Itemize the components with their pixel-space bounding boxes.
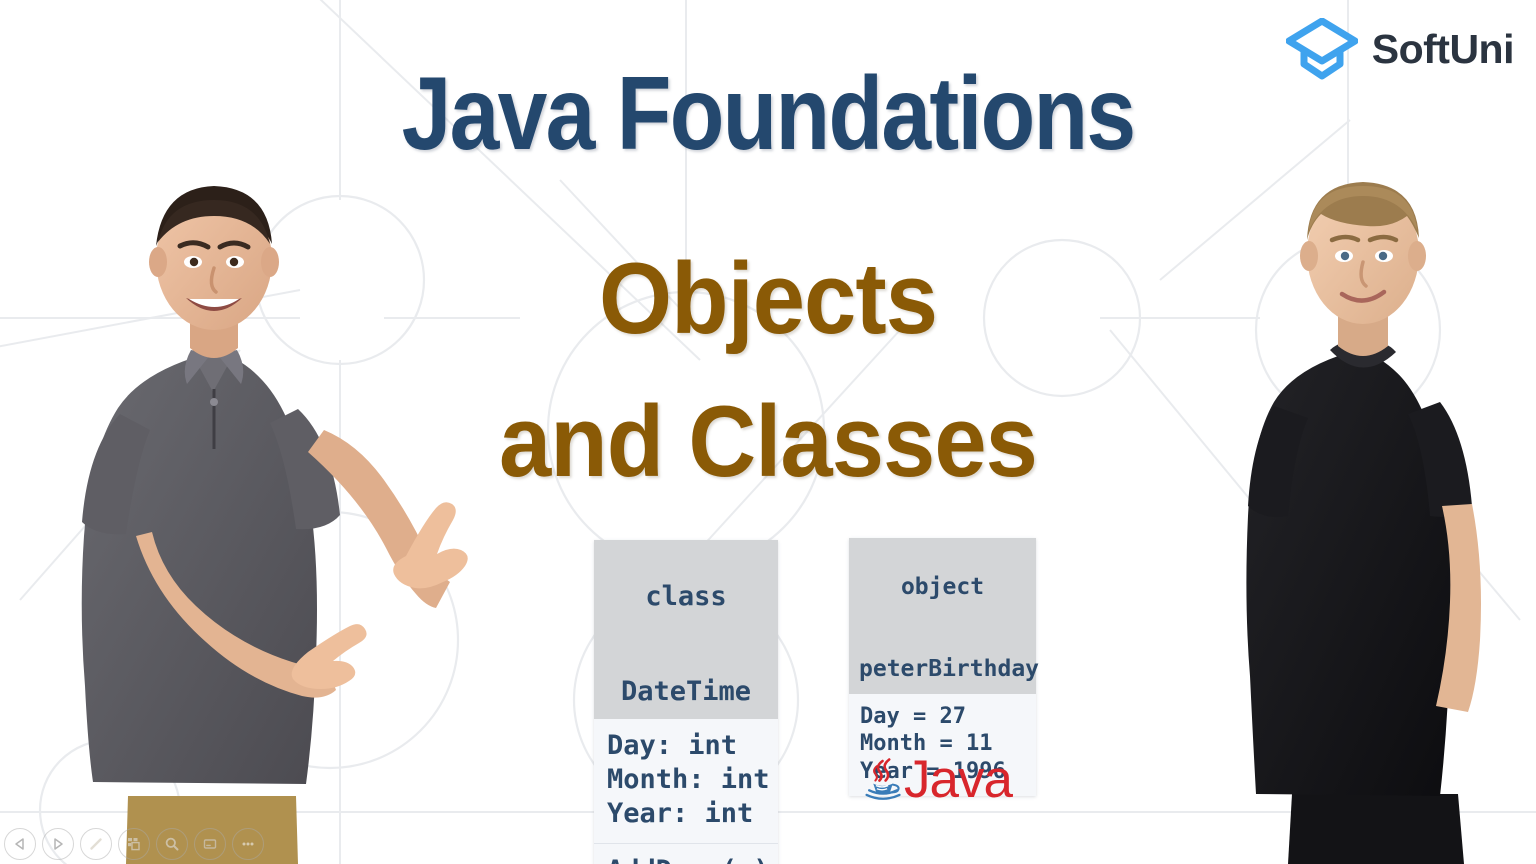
java-wordmark: Java xyxy=(904,753,1012,806)
subtitle-line-2: and Classes xyxy=(54,371,1482,514)
class-method-row: AddDays(…) xyxy=(607,854,765,864)
page-subtitle: Objects and Classes xyxy=(54,228,1482,515)
class-box-header-name: DateTime xyxy=(621,676,751,707)
class-box-header: class DateTime xyxy=(594,540,778,719)
object-box-header-name: peterBirthday xyxy=(859,656,1039,682)
pen-tool-button[interactable] xyxy=(80,828,112,860)
ellipsis-icon xyxy=(240,836,256,852)
previous-slide-button[interactable] xyxy=(4,828,36,860)
subtitles-icon xyxy=(202,836,218,852)
object-box-header: object peterBirthday xyxy=(849,538,1036,694)
zoom-button[interactable] xyxy=(156,828,188,860)
slide-overview-button[interactable] xyxy=(118,828,150,860)
class-field-row: Day: int xyxy=(607,729,765,763)
triangle-right-icon xyxy=(51,837,65,851)
subtitle-line-1: Objects xyxy=(54,228,1482,371)
triangle-left-icon xyxy=(13,837,27,851)
page-title: Java Foundations xyxy=(108,62,1429,166)
java-coffee-cup-icon xyxy=(862,738,902,820)
presentation-slide: SoftUni Java Foundations Objects and Cla… xyxy=(0,0,1536,864)
class-diagram-box: class DateTime Day: int Month: int Year:… xyxy=(594,540,778,864)
subtitles-button[interactable] xyxy=(194,828,226,860)
java-logo: Java xyxy=(862,738,1012,820)
softuni-logo: SoftUni xyxy=(1286,18,1514,80)
pen-icon xyxy=(88,836,104,852)
next-slide-button[interactable] xyxy=(42,828,74,860)
class-field-row: Month: int xyxy=(607,763,765,797)
presentation-toolbar[interactable] xyxy=(4,828,264,860)
class-box-header-keyword: class xyxy=(645,581,726,612)
more-options-button[interactable] xyxy=(232,828,264,860)
graduation-cap-icon xyxy=(1286,18,1358,80)
object-box-header-keyword: object xyxy=(901,574,984,600)
class-box-methods: AddDays(…) Subtract(…) xyxy=(594,843,778,864)
softuni-logo-text: SoftUni xyxy=(1372,29,1514,70)
magnifier-icon xyxy=(164,836,180,852)
class-field-row: Year: int xyxy=(607,797,765,831)
object-value-row: Day = 27 xyxy=(860,703,1025,731)
grid-slides-icon xyxy=(126,836,142,852)
class-box-fields: Day: int Month: int Year: int xyxy=(594,719,778,842)
